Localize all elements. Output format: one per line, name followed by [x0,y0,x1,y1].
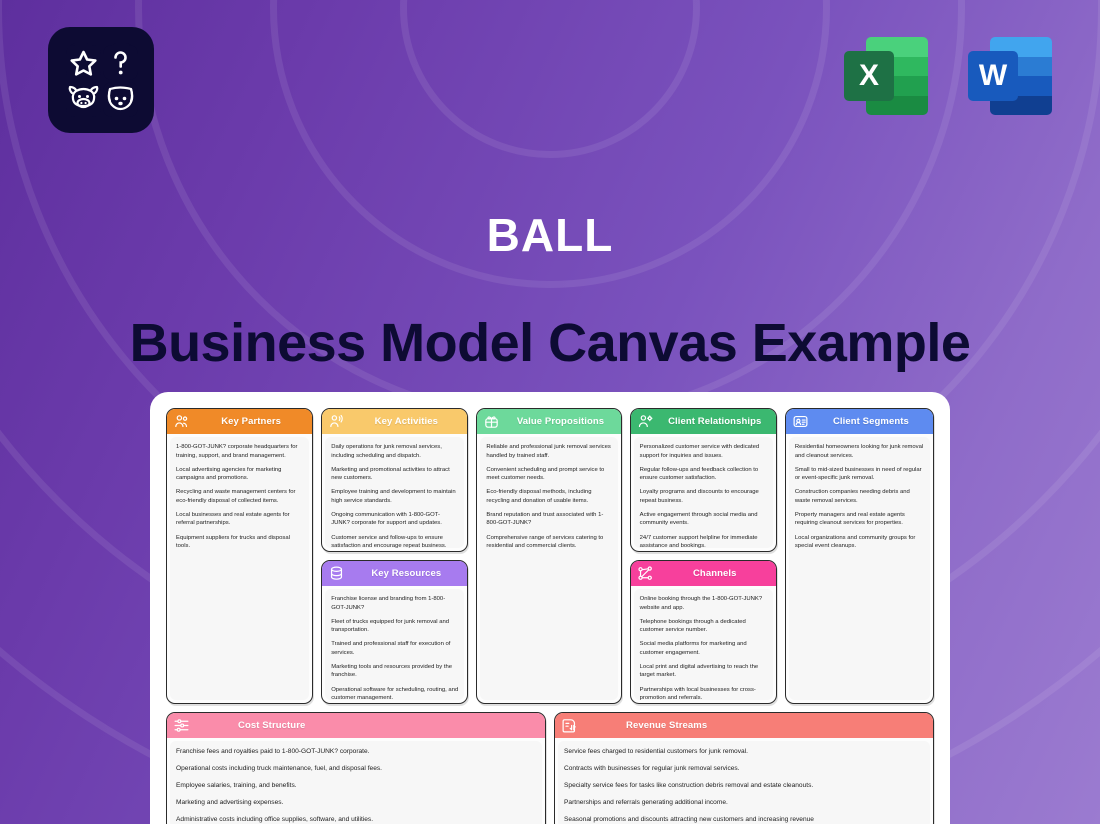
list-item: 1-800-GOT-JUNK? corporate headquarters f… [176,443,303,460]
block-title: Client Relationships [660,416,770,427]
list-item: Regular follow-ups and feedback collecti… [640,466,767,483]
id-card-icon [792,413,809,430]
sliders-icon [173,717,190,734]
block-value-propositions[interactable]: Value Propositions Reliable and professi… [476,408,621,704]
word-icon[interactable]: W [968,27,1052,119]
block-header: Key Activities [322,409,467,434]
list-item: Daily operations for junk removal servic… [331,443,458,460]
block-header: Client Relationships [631,409,776,434]
list-item: Customer service and follow-ups to ensur… [331,534,458,549]
block-body: Personalized customer service with dedic… [634,437,773,548]
block-title: Key Resources [351,568,461,579]
page-title: Business Model Canvas Example [0,312,1100,374]
block-cost-structure[interactable]: Cost Structure Franchise fees and royalt… [166,712,546,824]
list-item: Operational software for scheduling, rou… [331,686,458,701]
list-item: Recycling and waste management centers f… [176,488,303,505]
list-item: Trained and professional staff for execu… [331,640,458,657]
list-item: Contracts with businesses for regular ju… [564,764,924,774]
block-title: Cost Structure [196,720,539,731]
list-item: Partnerships and referrals generating ad… [564,798,924,808]
network-icon [637,565,654,582]
list-item: Loyalty programs and discounts to encour… [640,488,767,505]
canvas-column-1: Key Partners 1-800-GOT-JUNK? corporate h… [166,408,313,704]
database-icon [328,565,345,582]
list-item: Franchise fees and royalties paid to 1-8… [176,747,536,757]
list-item: Local businesses and real estate agents … [176,511,303,528]
list-item: Specialty service fees for tasks like co… [564,781,924,791]
office-icons: X W [844,27,1052,119]
poster-page: X W BALL Business Model Canvas Example [0,0,1100,824]
revenue-icon [561,717,578,734]
canvas-top-row: Key Partners 1-800-GOT-JUNK? corporate h… [166,408,934,704]
canvas-column-3: Value Propositions Reliable and professi… [476,408,621,704]
list-item: Active engagement through social media a… [640,511,767,528]
gift-icon [483,413,500,430]
partners-icon [173,413,190,430]
list-item: 24/7 customer support helpline for immed… [640,534,767,549]
list-item: Operational costs including truck mainte… [176,764,536,774]
block-client-relationships[interactable]: Client Relationships Personalized custom… [630,408,777,552]
list-item: Employee training and development to mai… [331,488,458,505]
list-item: Franchise license and branding from 1-80… [331,595,458,612]
canvas-column-5: Client Segments Residential homeowners l… [785,408,934,704]
word-letter: W [968,51,1018,101]
canvas-column-2: Key Activities Daily operations for junk… [321,408,468,704]
block-header: Value Propositions [477,409,620,434]
block-body: Franchise license and branding from 1-80… [325,589,464,700]
block-title: Revenue Streams [584,720,927,731]
list-item: Marketing and promotional activities to … [331,466,458,483]
list-item: Telephone bookings through a dedicated c… [640,618,767,635]
block-body: 1-800-GOT-JUNK? corporate headquarters f… [170,437,309,700]
list-item: Online booking through the 1-800-GOT-JUN… [640,595,767,612]
list-item: Convenient scheduling and prompt service… [486,466,611,483]
list-item: Fleet of trucks equipped for junk remova… [331,618,458,635]
block-header: Revenue Streams [555,713,933,738]
block-client-segments[interactable]: Client Segments Residential homeowners l… [785,408,934,704]
excel-icon[interactable]: X [844,27,928,119]
excel-letter: X [844,51,894,101]
block-revenue-streams[interactable]: Revenue Streams Service fees charged to … [554,712,934,824]
block-header: Client Segments [786,409,933,434]
list-item: Personalized customer service with dedic… [640,443,767,460]
block-title: Key Activities [351,416,461,427]
block-body: Residential homeowners looking for junk … [789,437,930,700]
list-item: Seasonal promotions and discounts attrac… [564,815,924,824]
block-body: Daily operations for junk removal servic… [325,437,464,548]
list-item: Comprehensive range of services catering… [486,534,611,551]
list-item: Marketing tools and resources provided b… [331,663,458,680]
block-title: Key Partners [196,416,306,427]
activities-icon [328,413,345,430]
brand-name: BALL [0,208,1100,262]
list-item: Local print and digital advertising to r… [640,663,767,680]
block-title: Client Segments [815,416,927,427]
block-body: Franchise fees and royalties paid to 1-8… [170,741,542,824]
block-header: Cost Structure [167,713,545,738]
block-body: Service fees charged to residential cust… [558,741,930,824]
list-item: Construction companies needing debris an… [795,488,924,505]
block-key-resources[interactable]: Key Resources Franchise license and bran… [321,560,468,704]
list-item: Residential homeowners looking for junk … [795,443,924,460]
list-item: Social media platforms for marketing and… [640,640,767,657]
block-channels[interactable]: Channels Online booking through the 1-80… [630,560,777,704]
list-item: Ongoing communication with 1-800-GOT-JUN… [331,511,458,528]
list-item: Service fees charged to residential cust… [564,747,924,757]
list-item: Marketing and advertising expenses. [176,798,536,808]
canvas-column-4: Client Relationships Personalized custom… [630,408,777,704]
block-header: Key Resources [322,561,467,586]
list-item: Local organizations and community groups… [795,534,924,551]
canvas-bottom-row: Cost Structure Franchise fees and royalt… [166,712,934,824]
block-header: Key Partners [167,409,312,434]
block-key-partners[interactable]: Key Partners 1-800-GOT-JUNK? corporate h… [166,408,313,704]
business-model-canvas-sheet: Key Partners 1-800-GOT-JUNK? corporate h… [150,392,950,824]
list-item: Partnerships with local businesses for c… [640,686,767,701]
block-key-activities[interactable]: Key Activities Daily operations for junk… [321,408,468,552]
list-item: Reliable and professional junk removal s… [486,443,611,460]
scan-pets-logo-icon [48,27,154,133]
list-item: Eco-friendly disposal methods, including… [486,488,611,505]
block-header: Channels [631,561,776,586]
list-item: Property managers and real estate agents… [795,511,924,528]
list-item: Administrative costs including office su… [176,815,536,824]
list-item: Employee salaries, training, and benefit… [176,781,536,791]
list-item: Small to mid-sized businesses in need of… [795,466,924,483]
block-title: Channels [660,568,770,579]
list-item: Brand reputation and trust associated wi… [486,511,611,528]
block-body: Reliable and professional junk removal s… [480,437,617,700]
user-settings-icon [637,413,654,430]
block-body: Online booking through the 1-800-GOT-JUN… [634,589,773,700]
list-item: Local advertising agencies for marketing… [176,466,303,483]
list-item: Equipment suppliers for trucks and dispo… [176,534,303,551]
block-title: Value Propositions [506,416,614,427]
